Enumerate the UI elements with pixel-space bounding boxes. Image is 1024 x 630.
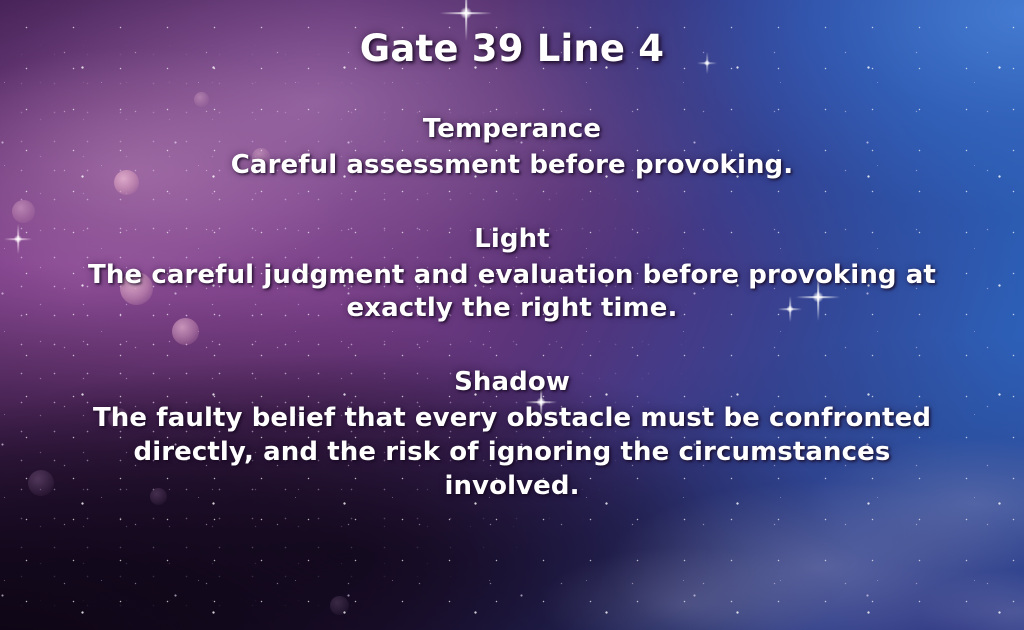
spacer: [78, 183, 946, 223]
poster-content: Gate 39 Line 4 Temperance Careful assess…: [0, 0, 1024, 630]
spacer: [78, 71, 946, 113]
section-heading: Light: [78, 223, 946, 257]
section-body: The faulty belief that every obstacle mu…: [78, 402, 946, 503]
section-body: Careful assessment before provoking.: [78, 149, 946, 183]
section-body: The careful judgment and evaluation befo…: [78, 259, 946, 327]
section-shadow: Shadow The faulty belief that every obst…: [78, 366, 946, 503]
section-temperance: Temperance Careful assessment before pro…: [78, 113, 946, 183]
page-title: Gate 39 Line 4: [78, 26, 946, 71]
section-heading: Temperance: [78, 113, 946, 147]
section-light: Light The careful judgment and evaluatio…: [78, 223, 946, 326]
spacer: [78, 326, 946, 366]
section-heading: Shadow: [78, 366, 946, 400]
gate-poster: Gate 39 Line 4 Temperance Careful assess…: [0, 0, 1024, 630]
